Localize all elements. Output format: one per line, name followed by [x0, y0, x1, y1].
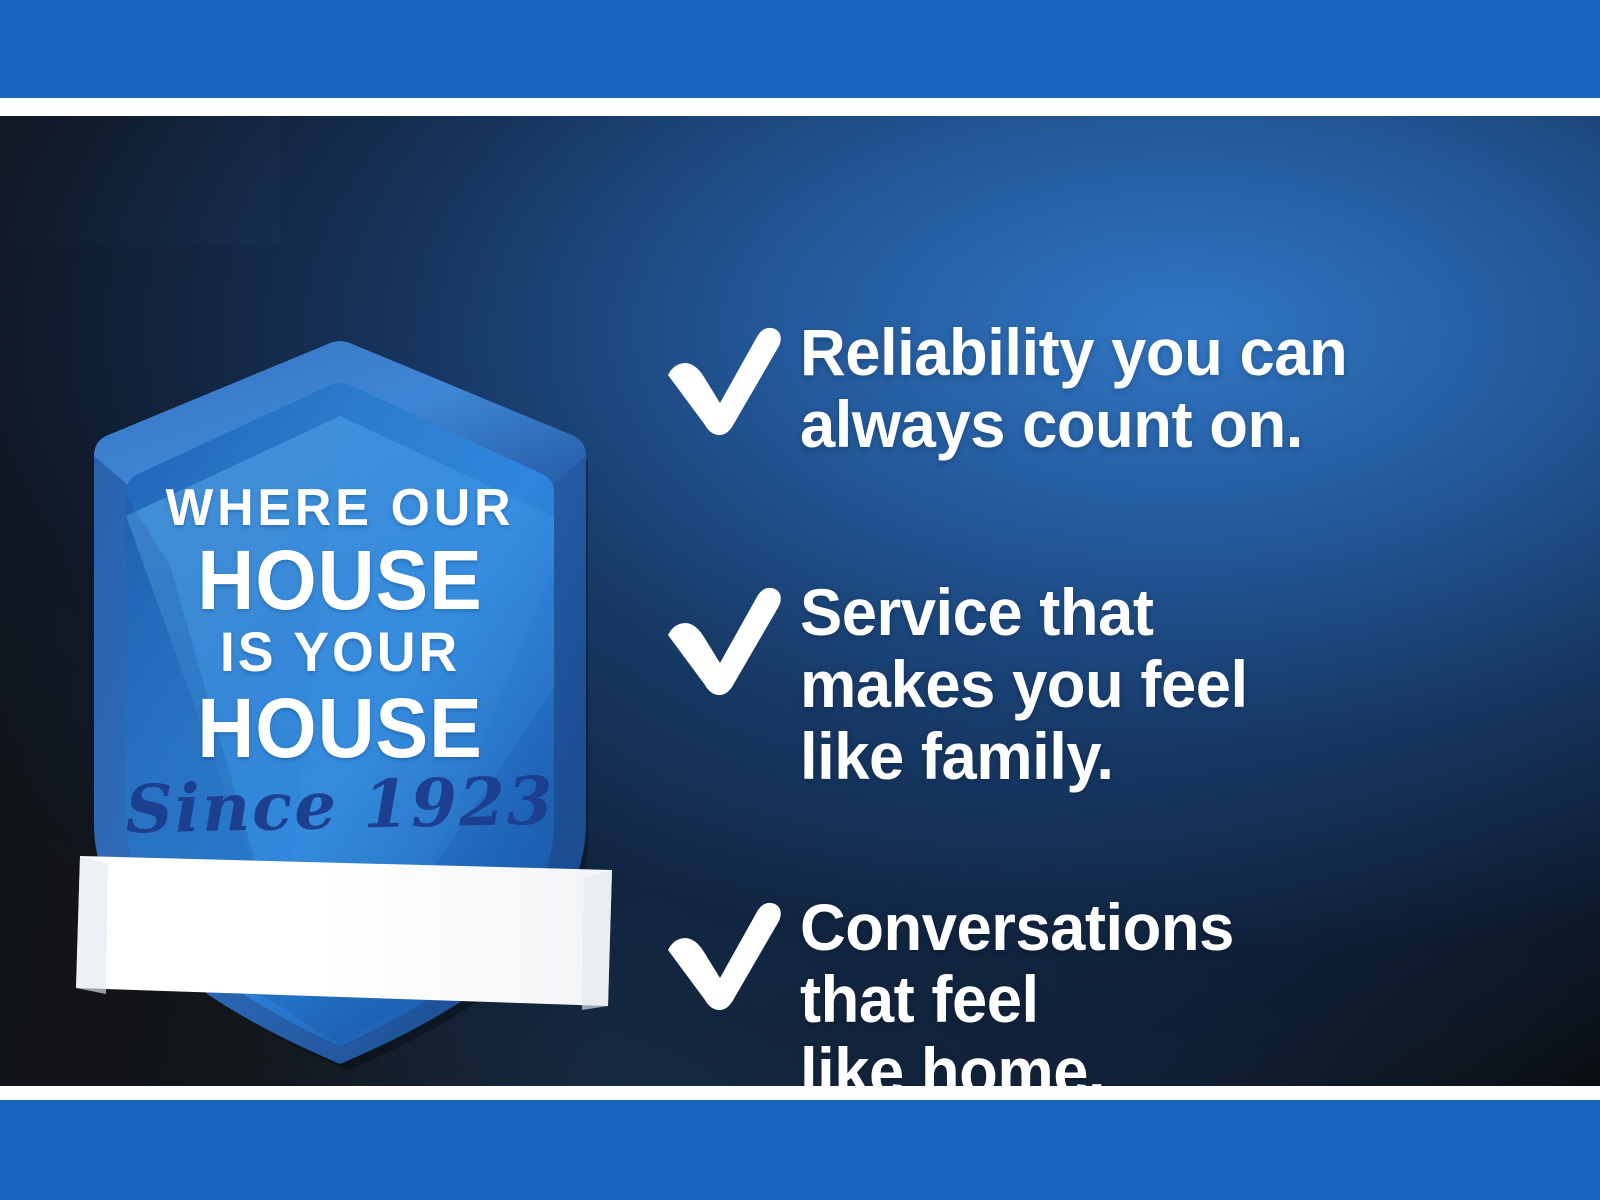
list-item: Service that makes you feel like family. [660, 577, 1266, 793]
list-item-text: Conversations that feel like home. [800, 892, 1234, 1086]
benefits-list: Reliability you can always count on. Ser… [660, 232, 1540, 1086]
poster-stage: WHERE OUR HOUSE IS YOUR HOUSE Since 1923… [0, 116, 1600, 1086]
company-shield-badge: WHERE OUR HOUSE IS YOUR HOUSE Since 1923 [60, 266, 620, 1076]
bottom-white-divider [0, 1086, 1600, 1100]
ribbon-band [76, 856, 612, 1006]
check-icon [660, 892, 800, 1010]
list-item-text: Service that makes you feel like family. [800, 577, 1248, 793]
bottom-brand-bar [0, 1100, 1600, 1200]
ribbon-right-fold [582, 870, 612, 1010]
promo-poster: WHERE OUR HOUSE IS YOUR HOUSE Since 1923… [0, 0, 1600, 1200]
list-item: Reliability you can always count on. [660, 317, 1370, 461]
top-brand-bar [0, 0, 1600, 98]
top-white-divider [0, 98, 1600, 116]
check-icon [660, 577, 800, 695]
list-item: Conversations that feel like home. [660, 892, 1252, 1086]
check-icon [660, 317, 800, 435]
list-item-text: Reliability you can always count on. [800, 317, 1347, 461]
ribbon-left-fold [76, 856, 108, 994]
